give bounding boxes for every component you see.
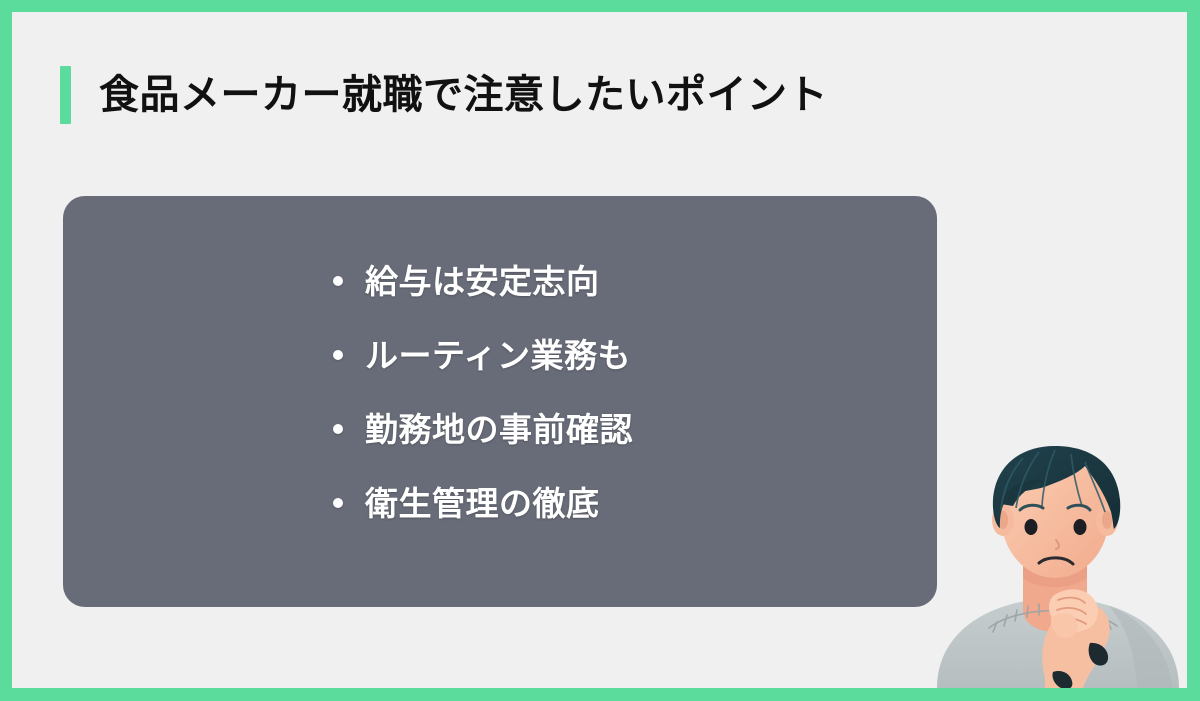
list-item-label: 衛生管理の徹底 <box>365 487 600 520</box>
title-accent-bar <box>60 66 71 124</box>
list-item: 勤務地の事前確認 <box>333 392 633 466</box>
thinking-person-illustration <box>927 428 1187 688</box>
list-item: ルーティン業務も <box>333 318 633 392</box>
slide-content-panel: 食品メーカー就職で注意したいポイント 給与は安定志向 ルーティン業務も 勤務地の… <box>12 12 1187 688</box>
bullet-dot-icon <box>333 276 343 286</box>
bullet-dot-icon <box>333 498 343 508</box>
list-item-label: 給与は安定志向 <box>365 265 600 298</box>
list-item: 給与は安定志向 <box>333 244 633 318</box>
points-list: 給与は安定志向 ルーティン業務も 勤務地の事前確認 衛生管理の徹底 <box>333 244 633 540</box>
bullet-dot-icon <box>333 350 343 360</box>
list-item: 衛生管理の徹底 <box>333 466 633 540</box>
list-item-label: 勤務地の事前確認 <box>365 413 633 446</box>
page-title: 食品メーカー就職で注意したいポイント <box>60 66 828 124</box>
title-label: 食品メーカー就職で注意したいポイント <box>99 75 828 115</box>
list-item-label: ルーティン業務も <box>365 339 631 372</box>
bullet-dot-icon <box>333 424 343 434</box>
points-card: 給与は安定志向 ルーティン業務も 勤務地の事前確認 衛生管理の徹底 <box>63 196 937 607</box>
slide-root: 食品メーカー就職で注意したいポイント 給与は安定志向 ルーティン業務も 勤務地の… <box>0 0 1200 701</box>
